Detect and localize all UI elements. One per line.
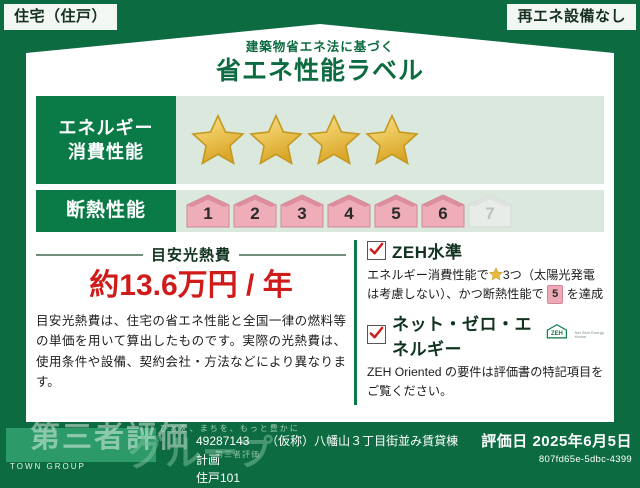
insulation-level-6: 6 [421,194,465,228]
zeh-desc-part1: エネルギー消費性能で [367,268,489,282]
star-rating [190,112,420,168]
insulation-performance-value: 1234567 [176,190,604,232]
energy-label-line2: 消費性能 [59,140,154,164]
star-icon [306,112,362,168]
insulation-level-number: 4 [344,204,353,228]
insulation-performance-label: 断熱性能 [36,190,176,232]
star-icon [248,112,304,168]
insulation-level-5: 5 [374,194,418,228]
column-divider [354,240,357,405]
net-zero-description: ZEH Oriented の要件は評価書の特記項目をご覧ください。 [367,363,604,401]
star-icon [364,112,420,168]
lower-section: 目安光熱費 約13.6万円 / 年 目安光熱費は、住宅の省エネ性能と全国一律の燃… [36,238,604,407]
footer-line1: 49287143 （仮称）八幡山３丁目街並み賃貸棟計画 [196,432,460,469]
badge-building-type: 住宅（住戸） [4,4,117,30]
cost-heading: 目安光熱費 [151,244,231,265]
net-zero-energy-block: ネット・ゼロ・エネルギー ZEH Net Zero Energy House Z… [367,310,604,401]
footer-date-value: 2025年6月5日 [532,433,632,450]
insulation-level-2: 2 [233,194,277,228]
insulation-level-1: 1 [186,194,230,228]
rule-right [239,254,346,256]
insulation-level-number: 2 [250,204,259,228]
insulation-level-7: 7 [468,194,512,228]
check-icon [367,241,386,260]
star-icon [190,112,246,168]
check-icon [367,325,386,344]
insulation-level-number: 7 [485,204,494,228]
insulation-scale: 1234567 [186,194,512,228]
town-group-logo: TOWN GROUP [6,428,156,472]
zeh-column: ZEH水準 エネルギー消費性能で3つ（太陽光発電は考慮しない）、かつ断熱性能で … [367,238,604,407]
net-zero-title-row: ネット・ゼロ・エネルギー ZEH Net Zero Energy House [367,310,604,360]
header-title: 省エネ性能ラベル [0,56,640,87]
zeh-level-title: ZEH水準 [392,238,463,263]
logo-mark [6,428,156,462]
star-icon [489,267,503,281]
header-block: 建築物省エネ法に基づく 省エネ性能ラベル [0,40,640,87]
badge-renewable-energy: 再エネ設備なし [507,4,636,30]
svg-text:ZEH: ZEH [551,331,563,337]
footer-hash: 807fd65e-5dbc-4399 [481,454,632,465]
footer-project-info: 49287143 （仮称）八幡山３丁目街並み賃貸棟計画 住戸101 [196,432,460,488]
insulation-level-number: 3 [297,204,306,228]
insulation-level-4: 4 [327,194,371,228]
energy-label-line1: エネルギー [59,116,154,140]
insulation-performance-row: 断熱性能 1234567 [36,190,604,232]
insulation-level-number: 5 [391,204,400,228]
rule-left [36,254,143,256]
insulation-level-3: 3 [280,194,324,228]
footer-unit: 住戸101 [196,469,460,488]
net-zero-title: ネット・ゼロ・エネルギー [392,310,539,360]
zeh-badge-subtext: Net Zero Energy House [575,331,604,340]
cost-column: 目安光熱費 約13.6万円 / 年 目安光熱費は、住宅の省エネ性能と全国一律の燃… [36,238,354,407]
zeh-level-block: ZEH水準 エネルギー消費性能で3つ（太陽光発電は考慮しない）、かつ断熱性能で … [367,238,604,304]
logo-text: TOWN GROUP [10,462,86,471]
cost-heading-row: 目安光熱費 [36,244,346,265]
energy-performance-label: エネルギー 消費性能 [36,96,176,184]
insulation-level-number: 1 [203,204,212,228]
energy-label-root: 住宅（住戸） 再エネ設備なし 建築物省エネ法に基づく 省エネ性能ラベル エネルギ… [0,0,640,478]
footer-date: 評価日 2025年6月5日 [481,430,632,451]
header-subtitle: 建築物省エネ法に基づく [0,40,640,55]
insulation-badge-5: 5 [547,285,563,304]
zeh-level-description: エネルギー消費性能で3つ（太陽光発電は考慮しない）、かつ断熱性能で 5 を達成 [367,266,604,304]
energy-performance-row: エネルギー 消費性能 [36,96,604,184]
cost-note: 目安光熱費は、住宅の省エネ性能と全国一律の燃料等の単価を用いて算出したものです。… [36,311,346,394]
insulation-level-number: 6 [438,204,447,228]
energy-performance-value [176,96,604,184]
footer-date-label: 評価日 [481,433,528,450]
cost-amount: 約13.6万円 / 年 [36,267,346,305]
zeh-house-badge-icon: ZEH [545,323,569,347]
footer: TOWN GROUP 第三者評価 グループ ひとを、まちを、もっと豊かに 第三者… [0,422,640,478]
footer-date-block: 評価日 2025年6月5日 807fd65e-5dbc-4399 [481,430,632,465]
zeh-level-title-row: ZEH水準 [367,238,604,263]
label-card: エネルギー 消費性能 断熱性能 1234567 目安光熱費 [26,88,614,422]
zeh-desc-part3: を達成 [567,287,604,301]
footer-id: 49287143 [196,434,249,448]
